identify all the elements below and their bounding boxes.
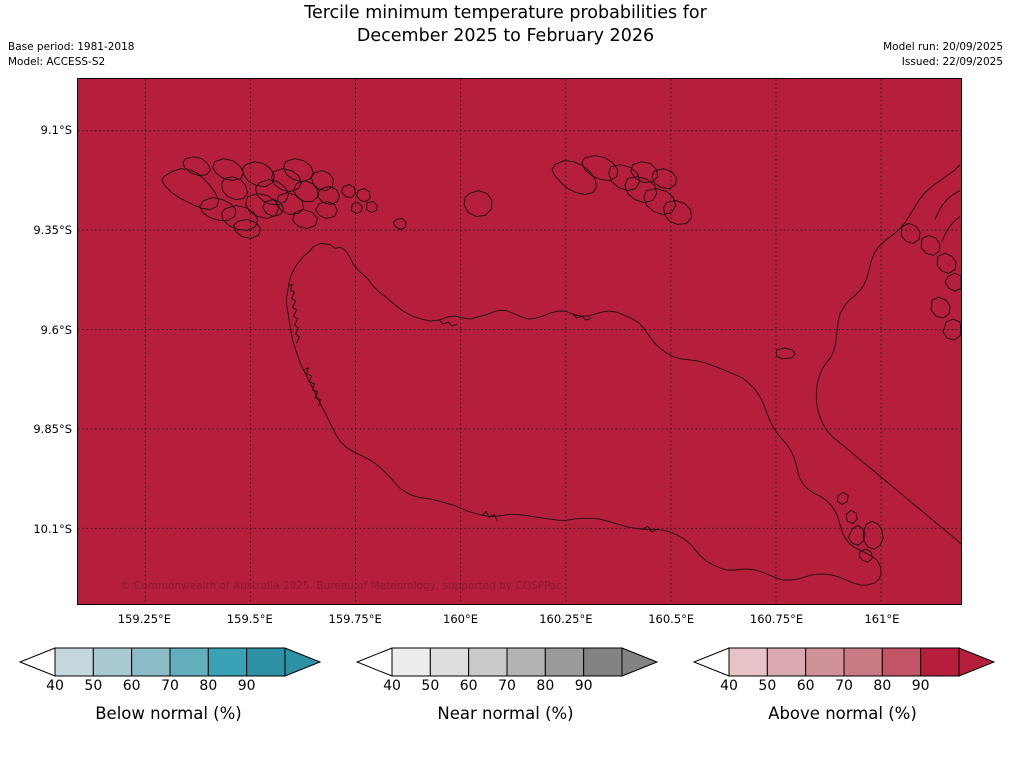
colorbar-above-normal[interactable]: 405060708090Above normal (%) <box>674 642 1011 758</box>
colorbar-tick-label: 50 <box>84 678 102 694</box>
colorbar-below-normal[interactable]: 405060708090Below normal (%) <box>0 642 337 758</box>
colorbar-segment[interactable] <box>247 648 285 676</box>
colorbar-tick-label: 60 <box>797 678 815 694</box>
colorbar-segment[interactable] <box>507 648 545 676</box>
colorbar-under-arrow <box>357 648 392 676</box>
colorbar-tick-label: 70 <box>835 678 853 694</box>
colorbar-tick-label: 70 <box>498 678 516 694</box>
colorbar-segment[interactable] <box>208 648 246 676</box>
colorbar-segment[interactable] <box>767 648 805 676</box>
longitude-tick-label: 160.25°E <box>539 612 592 626</box>
colorbar-tick-label: 80 <box>873 678 891 694</box>
colorbar-segment[interactable] <box>844 648 882 676</box>
colorbar-segment[interactable] <box>921 648 959 676</box>
colorbar-tick-label: 70 <box>161 678 179 694</box>
colorbar-segment[interactable] <box>545 648 583 676</box>
colorbar-near-normal[interactable]: 405060708090Near normal (%) <box>337 642 674 758</box>
colorbar-tick-label: 40 <box>383 678 401 694</box>
longitude-tick-label: 159.25°E <box>118 612 171 626</box>
colorbar-tick-label: 40 <box>720 678 738 694</box>
colorbar-tick-label: 90 <box>912 678 930 694</box>
longitude-tick-label: 160.75°E <box>750 612 803 626</box>
longitude-tick-label: 161°E <box>864 612 899 626</box>
colorbar-segment[interactable] <box>806 648 844 676</box>
colorbar-segment[interactable] <box>392 648 430 676</box>
colorbar-under-arrow <box>20 648 55 676</box>
forecast-map-page: Tercile minimum temperature probabilitie… <box>0 0 1011 758</box>
colorbar-caption: Near normal (%) <box>337 704 674 723</box>
colorbar-tick-label: 50 <box>421 678 439 694</box>
longitude-tick-label: 160.5°E <box>648 612 694 626</box>
colorbar-over-arrow <box>959 648 994 676</box>
colorbar-tick-label: 60 <box>123 678 141 694</box>
colorbar-segment[interactable] <box>729 648 767 676</box>
colorbar-segment[interactable] <box>170 648 208 676</box>
colorbar-tick-label: 60 <box>460 678 478 694</box>
colorbar-tick-label: 90 <box>575 678 593 694</box>
colorbar-caption: Below normal (%) <box>0 704 337 723</box>
colorbar-tick-label: 90 <box>238 678 256 694</box>
colorbar-segment[interactable] <box>882 648 920 676</box>
colorbar-segment[interactable] <box>93 648 131 676</box>
colorbar-segment[interactable] <box>469 648 507 676</box>
colorbar-tick-label: 80 <box>199 678 217 694</box>
colorbar-over-arrow <box>285 648 320 676</box>
colorbar-over-arrow <box>622 648 657 676</box>
colorbar-segment[interactable] <box>55 648 93 676</box>
colorbar-tick-label: 80 <box>536 678 554 694</box>
colorbar-tick-label: 50 <box>758 678 776 694</box>
longitude-tick-label: 160°E <box>443 612 478 626</box>
colorbar-segment[interactable] <box>132 648 170 676</box>
longitude-tick-label: 159.75°E <box>329 612 382 626</box>
colorbar-caption: Above normal (%) <box>674 704 1011 723</box>
longitude-tick-label: 159.5°E <box>227 612 273 626</box>
colorbar-tick-label: 40 <box>46 678 64 694</box>
colorbar-segment[interactable] <box>430 648 468 676</box>
colorbar-segment[interactable] <box>584 648 622 676</box>
colorbar-under-arrow <box>694 648 729 676</box>
